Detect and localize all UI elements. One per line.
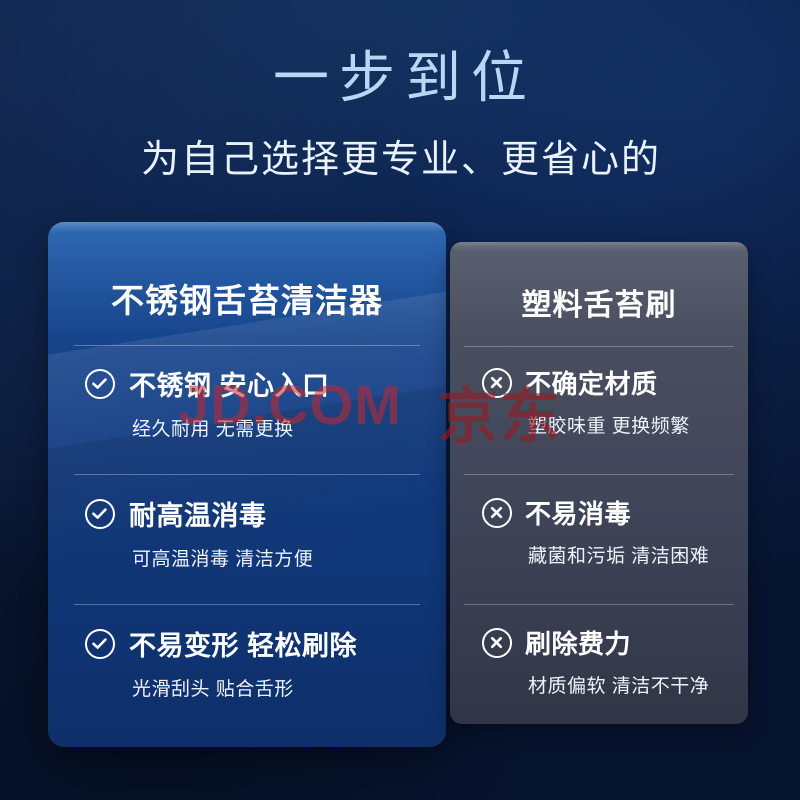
feature-subtitle: 可高温消毒 清洁方便 xyxy=(48,544,446,571)
feature-subtitle: 塑胶味重 更换频繁 xyxy=(450,411,748,438)
card-divider-3 xyxy=(464,604,734,605)
page-subtitle: 为自己选择更专业、更省心的 xyxy=(0,128,800,183)
cross-circle-icon xyxy=(482,628,512,658)
card-title-stainless-steel: 不锈钢舌苔清洁器 xyxy=(48,274,446,322)
feature-title: 不易消毒 xyxy=(525,494,631,531)
feature-row-3-gray: 刷除费力 材质偏软 清洁不干净 xyxy=(450,624,748,698)
card-title-plastic-brush: 塑料舌苔刷 xyxy=(450,280,748,324)
feature-subtitle: 光滑刮头 贴合舌形 xyxy=(48,674,446,701)
card-divider-1 xyxy=(464,346,734,347)
card-plastic-tongue-brush[interactable]: 塑料舌苔刷 不确定材质 塑胶味重 更换频繁 xyxy=(450,242,748,724)
feature-title: 不锈钢 安心入口 xyxy=(129,364,330,403)
check-circle-icon xyxy=(85,369,115,399)
feature-row-1-blue: 不锈钢 安心入口 经久耐用 无需更换 xyxy=(48,364,446,441)
card-stainless-steel-tongue-cleaner[interactable]: 不锈钢舌苔清洁器 不锈钢 安心入口 经久耐用 无需更换 xyxy=(48,222,446,747)
feature-subtitle: 材质偏软 清洁不干净 xyxy=(450,671,748,698)
feature-title: 刷除费力 xyxy=(525,624,631,661)
card-top-highlight xyxy=(450,242,748,250)
card-divider-1 xyxy=(74,345,420,346)
feature-row-1-gray: 不确定材质 塑胶味重 更换频繁 xyxy=(450,364,748,438)
card-divider-2 xyxy=(464,474,734,475)
check-circle-icon xyxy=(85,629,115,659)
feature-title: 不确定材质 xyxy=(525,364,658,401)
cross-circle-icon xyxy=(482,368,512,398)
feature-title: 耐高温消毒 xyxy=(129,494,267,533)
card-divider-2 xyxy=(74,474,420,475)
cross-circle-icon xyxy=(482,498,512,528)
card-top-highlight xyxy=(48,222,446,232)
feature-subtitle: 经久耐用 无需更换 xyxy=(48,414,446,441)
feature-row-3-blue: 不易变形 轻松刷除 光滑刮头 贴合舌形 xyxy=(48,624,446,701)
feature-subtitle: 藏菌和污垢 清洁困难 xyxy=(450,541,748,568)
feature-title: 不易变形 轻松刷除 xyxy=(129,624,357,663)
product-comparison-page: 一步到位 为自己选择更专业、更省心的 不锈钢舌苔清洁器 不锈钢 安心入口 经久耐… xyxy=(0,0,800,800)
card-divider-3 xyxy=(74,604,420,605)
feature-row-2-blue: 耐高温消毒 可高温消毒 清洁方便 xyxy=(48,494,446,571)
page-title: 一步到位 xyxy=(0,48,800,108)
check-circle-icon xyxy=(85,499,115,529)
feature-row-2-gray: 不易消毒 藏菌和污垢 清洁困难 xyxy=(450,494,748,568)
